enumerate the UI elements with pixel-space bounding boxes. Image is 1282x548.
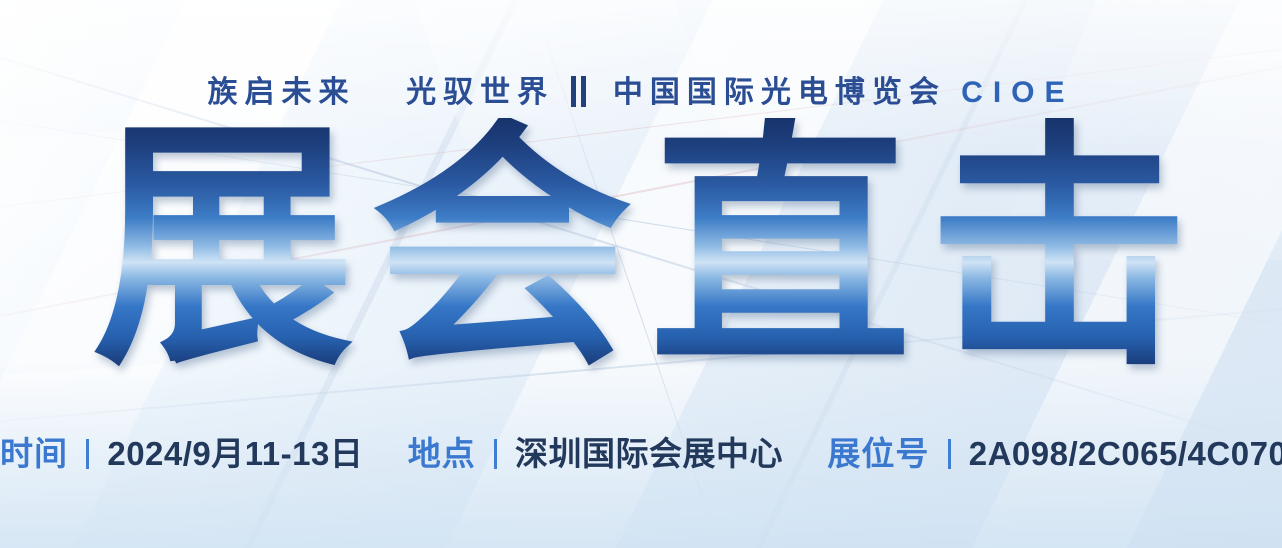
info-label-venue: 地点 [408,435,476,472]
info-separator-2 [494,439,497,469]
info-separator-3 [948,439,951,469]
info-value-booth: 2A098/2C065/4C070 [969,435,1282,472]
title-char-2: 会 [371,118,633,380]
info-separator-1 [86,439,89,469]
page-title: 展 会 直 击 [0,118,1282,380]
info-label-date: 时间 [0,435,68,472]
title-char-1: 展 [92,118,354,380]
info-value-venue: 深圳国际会展中心 [515,435,783,472]
title-char-4: 击 [928,118,1190,380]
title-char-3: 直 [649,118,911,380]
event-banner: 族启未来 光驭世界 中国国际光电博览会 CIOE 展 会 直 击 时间 2024… [0,0,1282,548]
info-value-date: 2024/9月11-13日 [107,435,363,472]
event-info-bar: 时间 2024/9月11-13日 地点 深圳国际会展中心 展位号 2A098/2… [0,437,1282,470]
info-label-booth: 展位号 [827,435,929,472]
